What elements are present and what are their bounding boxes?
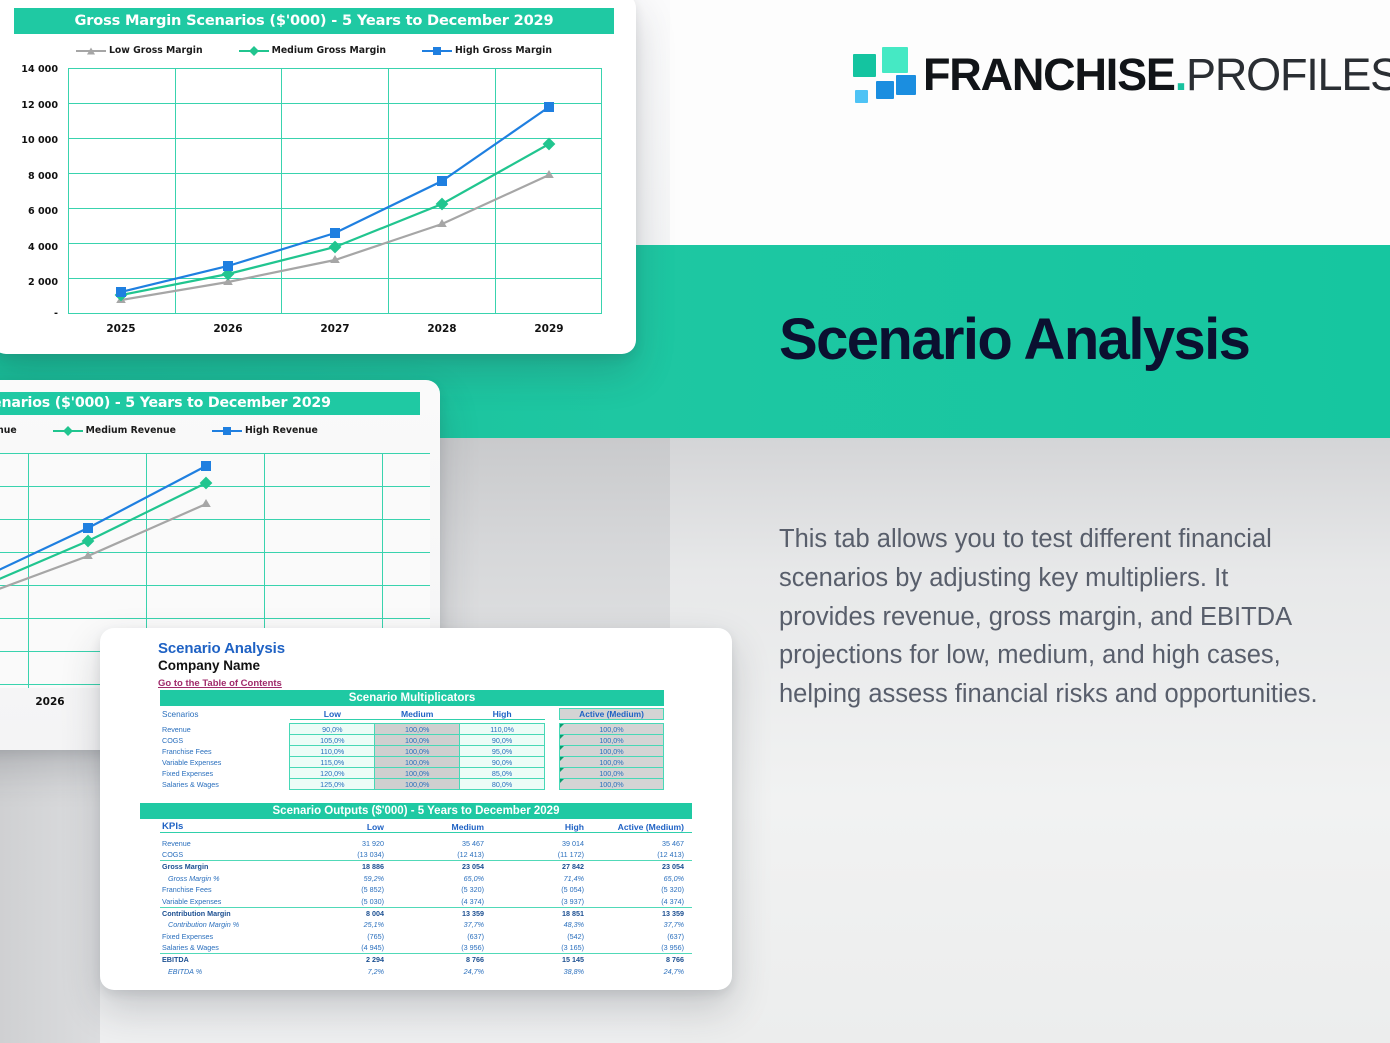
- multiplier-franchise-fees-medium[interactable]: 100,0%: [375, 746, 460, 757]
- multiplier-cogs-active[interactable]: 100,0%: [560, 735, 664, 746]
- spreadsheet-subtitle: Company Name: [158, 658, 285, 673]
- multiplier-variable-expenses-high[interactable]: 90,0%: [460, 757, 545, 768]
- table-row: Salaries & Wages (4 945) (3 956) (3 165)…: [160, 942, 692, 954]
- table-row: EBITDA 2 294 8 766 15 145 8 766: [160, 954, 692, 966]
- outputs-col-high: High: [492, 821, 592, 833]
- table-row: Gross Margin % 59,2% 65,0% 71,4% 65,0%: [160, 873, 692, 885]
- table-row: Franchise Fees 110,0% 100,0% 95,0% 100,0…: [160, 746, 664, 757]
- multiplier-salaries-wages-medium[interactable]: 100,0%: [375, 779, 460, 790]
- gross-margin-plot-area: [68, 68, 602, 314]
- gross-margin-chart-card: Gross Margin Scenarios ($'000) - 5 Years…: [0, 0, 636, 354]
- output-cogs-active: (12 413): [592, 849, 692, 861]
- background-top-right-panel: [670, 0, 1390, 245]
- revenue-chart-title: Revenue Scenarios ($'000) - 5 Years to D…: [0, 392, 420, 415]
- scenario-outputs-band: Scenario Outputs ($'000) - 5 Years to De…: [140, 803, 692, 819]
- output-contribution-margin-active: 13 359: [592, 907, 692, 919]
- table-row: EBITDA % 7,2% 24,7% 38,8% 24,7%: [160, 966, 692, 978]
- revenue-chart-legend: Low Revenue Medium Revenue High Revenue: [0, 425, 420, 436]
- output-label-ebitda: EBITDA: [160, 954, 292, 966]
- logo-square-teal: [853, 54, 876, 77]
- row-label-variable-expenses: Variable Expenses: [160, 757, 290, 768]
- multiplier-salaries-wages-active[interactable]: 100,0%: [560, 779, 664, 790]
- output-gross-margin-high: 27 842: [492, 861, 592, 873]
- logo-word-dot: .: [1175, 49, 1186, 100]
- table-row: Variable Expenses (5 030) (4 374) (3 937…: [160, 896, 692, 908]
- output-cogs-medium: (12 413): [392, 849, 492, 861]
- logo-square-sky: [855, 90, 868, 103]
- output-cogs-high: (11 172): [492, 849, 592, 861]
- output-variable-expenses-low: (5 030): [292, 896, 392, 908]
- output-variable-expenses-active: (4 374): [592, 896, 692, 908]
- output-label-contribution-margin: Contribution Margin: [160, 907, 292, 919]
- logo-word-franchise: FRANCHISE: [923, 49, 1175, 100]
- output-contribution-margin-pct-high: 48,3%: [492, 919, 592, 931]
- legend-label-low-revenue: Low Revenue: [0, 425, 17, 436]
- scenario-multiplicators-band: Scenario Multiplicators: [160, 690, 664, 706]
- scenario-analysis-spreadsheet-card: Scenario Analysis Company Name Go to the…: [100, 628, 732, 990]
- output-revenue-medium: 35 467: [392, 838, 492, 850]
- multiplier-fixed-expenses-high[interactable]: 85,0%: [460, 768, 545, 779]
- output-ebitda-low: 2 294: [292, 954, 392, 966]
- output-label-revenue: Revenue: [160, 838, 292, 850]
- output-franchise-fees-high: (5 054): [492, 884, 592, 896]
- multiplier-fixed-expenses-medium[interactable]: 100,0%: [375, 768, 460, 779]
- table-row: Franchise Fees (5 852) (5 320) (5 054) (…: [160, 884, 692, 896]
- legend-item-high-gross-margin: High Gross Margin: [422, 45, 552, 56]
- legend-item-medium-gross-margin: Medium Gross Margin: [239, 45, 386, 56]
- output-ebitda-pct-high: 38,8%: [492, 966, 592, 978]
- output-fixed-expenses-high: (542): [492, 931, 592, 943]
- multiplier-franchise-fees-active[interactable]: 100,0%: [560, 746, 664, 757]
- multiplier-revenue-low[interactable]: 90,0%: [290, 724, 375, 735]
- output-contribution-margin-low: 8 004: [292, 907, 392, 919]
- output-revenue-high: 39 014: [492, 838, 592, 850]
- y-tick-14000: 14 000: [6, 64, 58, 75]
- y-tick-10000: 10 000: [6, 135, 58, 146]
- gross-margin-chart-legend: Low Gross Margin Medium Gross Margin Hig…: [14, 45, 614, 56]
- y-tick-zero: -: [6, 308, 58, 319]
- output-gross-margin-medium: 23 054: [392, 861, 492, 873]
- y-tick-12000: 12 000: [6, 100, 58, 111]
- gross-margin-chart-title: Gross Margin Scenarios ($'000) - 5 Years…: [14, 8, 614, 34]
- output-fixed-expenses-low: (765): [292, 931, 392, 943]
- row-label-cogs: COGS: [160, 735, 290, 746]
- legend-label-high-revenue: High Revenue: [245, 425, 318, 436]
- multiplier-salaries-wages-low[interactable]: 125,0%: [290, 779, 375, 790]
- multiplier-revenue-active[interactable]: 100,0%: [560, 724, 664, 735]
- output-salaries-wages-low: (4 945): [292, 942, 392, 954]
- table-of-contents-link[interactable]: Go to the Table of Contents: [158, 678, 282, 689]
- table-row: Contribution Margin 8 004 13 359 18 851 …: [160, 907, 692, 919]
- multiplier-cogs-high[interactable]: 90,0%: [460, 735, 545, 746]
- multiplier-variable-expenses-medium[interactable]: 100,0%: [375, 757, 460, 768]
- y-tick-8000: 8 000: [6, 171, 58, 182]
- legend-item-high-revenue: High Revenue: [212, 425, 318, 436]
- output-franchise-fees-active: (5 320): [592, 884, 692, 896]
- multiplier-cogs-medium[interactable]: 100,0%: [375, 735, 460, 746]
- revenue-x-tick-2026: 2026: [26, 696, 74, 708]
- table-row: Fixed Expenses (765) (637) (542) (637): [160, 931, 692, 943]
- output-label-gross-margin: Gross Margin: [160, 861, 292, 873]
- multiplicators-col-scenarios: Scenarios: [160, 709, 290, 720]
- logo-square-blue-small: [876, 81, 894, 99]
- output-salaries-wages-medium: (3 956): [392, 942, 492, 954]
- multiplier-franchise-fees-high[interactable]: 95,0%: [460, 746, 545, 757]
- output-label-gross-margin-pct: Gross Margin %: [160, 873, 292, 885]
- table-row: Variable Expenses 115,0% 100,0% 90,0% 10…: [160, 757, 664, 768]
- legend-label-medium-revenue: Medium Revenue: [86, 425, 176, 436]
- output-ebitda-active: 8 766: [592, 954, 692, 966]
- y-tick-6000: 6 000: [6, 206, 58, 217]
- row-label-revenue: Revenue: [160, 724, 290, 735]
- output-contribution-margin-high: 18 851: [492, 907, 592, 919]
- legend-label-medium-gross-margin: Medium Gross Margin: [272, 45, 386, 56]
- multiplier-fixed-expenses-low[interactable]: 120,0%: [290, 768, 375, 779]
- output-gross-margin-pct-active: 65,0%: [592, 873, 692, 885]
- output-label-franchise-fees: Franchise Fees: [160, 884, 292, 896]
- legend-label-low-gross-margin: Low Gross Margin: [109, 45, 203, 56]
- multiplier-franchise-fees-low[interactable]: 110,0%: [290, 746, 375, 757]
- outputs-header-row: KPIs Low Medium High Active (Medium): [160, 821, 692, 833]
- row-label-fixed-expenses: Fixed Expenses: [160, 768, 290, 779]
- outputs-col-kpis: KPIs: [160, 821, 292, 833]
- output-contribution-margin-pct-active: 37,7%: [592, 919, 692, 931]
- page-description: This tab allows you to test different fi…: [779, 520, 1324, 714]
- scenario-multiplicators-table: Scenarios Low Medium High Active (Medium…: [160, 708, 664, 790]
- output-gross-margin-pct-low: 59,2%: [292, 873, 392, 885]
- output-salaries-wages-high: (3 165): [492, 942, 592, 954]
- output-variable-expenses-high: (3 937): [492, 896, 592, 908]
- multiplicators-col-active: Active (Medium): [560, 709, 664, 720]
- multiplier-revenue-medium[interactable]: 100,0%: [375, 724, 460, 735]
- output-contribution-margin-medium: 13 359: [392, 907, 492, 919]
- multiplier-revenue-high[interactable]: 110,0%: [460, 724, 545, 735]
- multiplier-fixed-expenses-active[interactable]: 100,0%: [560, 768, 664, 779]
- output-franchise-fees-medium: (5 320): [392, 884, 492, 896]
- table-row: Gross Margin 18 886 23 054 27 842 23 054: [160, 861, 692, 873]
- table-row: Revenue 90,0% 100,0% 110,0% 100,0%: [160, 724, 664, 735]
- output-ebitda-pct-medium: 24,7%: [392, 966, 492, 978]
- output-gross-margin-low: 18 886: [292, 861, 392, 873]
- row-label-salaries-wages: Salaries & Wages: [160, 779, 290, 790]
- output-fixed-expenses-medium: (637): [392, 931, 492, 943]
- output-ebitda-pct-low: 7,2%: [292, 966, 392, 978]
- output-fixed-expenses-active: (637): [592, 931, 692, 943]
- multiplier-cogs-low[interactable]: 105,0%: [290, 735, 375, 746]
- y-tick-4000: 4 000: [6, 242, 58, 253]
- multiplier-variable-expenses-low[interactable]: 115,0%: [290, 757, 375, 768]
- y-tick-2000: 2 000: [6, 277, 58, 288]
- brand-logo: FRANCHISE.PROFILES: [849, 46, 1390, 102]
- spreadsheet-title: Scenario Analysis: [158, 640, 285, 657]
- output-variable-expenses-medium: (4 374): [392, 896, 492, 908]
- x-tick-2028: 2028: [418, 323, 466, 335]
- outputs-col-low: Low: [292, 821, 392, 833]
- multiplicators-header-row: Scenarios Low Medium High Active (Medium…: [160, 709, 664, 720]
- output-gross-margin-pct-high: 71,4%: [492, 873, 592, 885]
- output-revenue-low: 31 920: [292, 838, 392, 850]
- x-tick-2026: 2026: [204, 323, 252, 335]
- legend-item-low-revenue: Low Revenue: [0, 425, 17, 436]
- x-tick-2025: 2025: [97, 323, 145, 335]
- output-ebitda-high: 15 145: [492, 954, 592, 966]
- output-label-cogs: COGS: [160, 849, 292, 861]
- output-cogs-low: (13 034): [292, 849, 392, 861]
- row-label-franchise-fees: Franchise Fees: [160, 746, 290, 757]
- output-franchise-fees-low: (5 852): [292, 884, 392, 896]
- output-label-fixed-expenses: Fixed Expenses: [160, 931, 292, 943]
- output-label-variable-expenses: Variable Expenses: [160, 896, 292, 908]
- output-label-ebitda-pct: EBITDA %: [160, 966, 292, 978]
- output-contribution-margin-pct-low: 25,1%: [292, 919, 392, 931]
- table-row: COGS 105,0% 100,0% 90,0% 100,0%: [160, 735, 664, 746]
- x-tick-2027: 2027: [311, 323, 359, 335]
- multiplicators-col-medium: Medium: [375, 709, 460, 720]
- legend-label-high-gross-margin: High Gross Margin: [455, 45, 552, 56]
- table-row: Salaries & Wages 125,0% 100,0% 80,0% 100…: [160, 779, 664, 790]
- scenario-outputs-table: KPIs Low Medium High Active (Medium) Rev…: [160, 821, 692, 977]
- logo-word-profiles: PROFILES: [1186, 49, 1390, 100]
- table-row: COGS (13 034) (12 413) (11 172) (12 413): [160, 849, 692, 861]
- output-contribution-margin-pct-medium: 37,7%: [392, 919, 492, 931]
- multiplier-variable-expenses-active[interactable]: 100,0%: [560, 757, 664, 768]
- output-label-salaries-wages: Salaries & Wages: [160, 942, 292, 954]
- output-label-contribution-margin-pct: Contribution Margin %: [160, 919, 292, 931]
- output-salaries-wages-active: (3 956): [592, 942, 692, 954]
- output-ebitda-pct-active: 24,7%: [592, 966, 692, 978]
- output-ebitda-medium: 8 766: [392, 954, 492, 966]
- x-tick-2029: 2029: [525, 323, 573, 335]
- outputs-col-medium: Medium: [392, 821, 492, 833]
- outputs-col-active: Active (Medium): [592, 821, 692, 833]
- output-gross-margin-pct-medium: 65,0%: [392, 873, 492, 885]
- table-row: Contribution Margin % 25,1% 37,7% 48,3% …: [160, 919, 692, 931]
- page-title: Scenario Analysis: [779, 311, 1249, 369]
- logo-square-blue-large: [896, 75, 916, 95]
- logo-wordmark: FRANCHISE.PROFILES: [923, 52, 1390, 97]
- table-row: Revenue 31 920 35 467 39 014 35 467: [160, 838, 692, 850]
- logo-squares-icon: [849, 46, 911, 102]
- output-gross-margin-active: 23 054: [592, 861, 692, 873]
- multiplicators-col-low: Low: [290, 709, 375, 720]
- output-revenue-active: 35 467: [592, 838, 692, 850]
- table-row: Fixed Expenses 120,0% 100,0% 85,0% 100,0…: [160, 768, 664, 779]
- multiplier-salaries-wages-high[interactable]: 80,0%: [460, 779, 545, 790]
- multiplicators-col-high: High: [460, 709, 545, 720]
- logo-square-mint: [882, 47, 908, 73]
- legend-item-low-gross-margin: Low Gross Margin: [76, 45, 203, 56]
- legend-item-medium-revenue: Medium Revenue: [53, 425, 176, 436]
